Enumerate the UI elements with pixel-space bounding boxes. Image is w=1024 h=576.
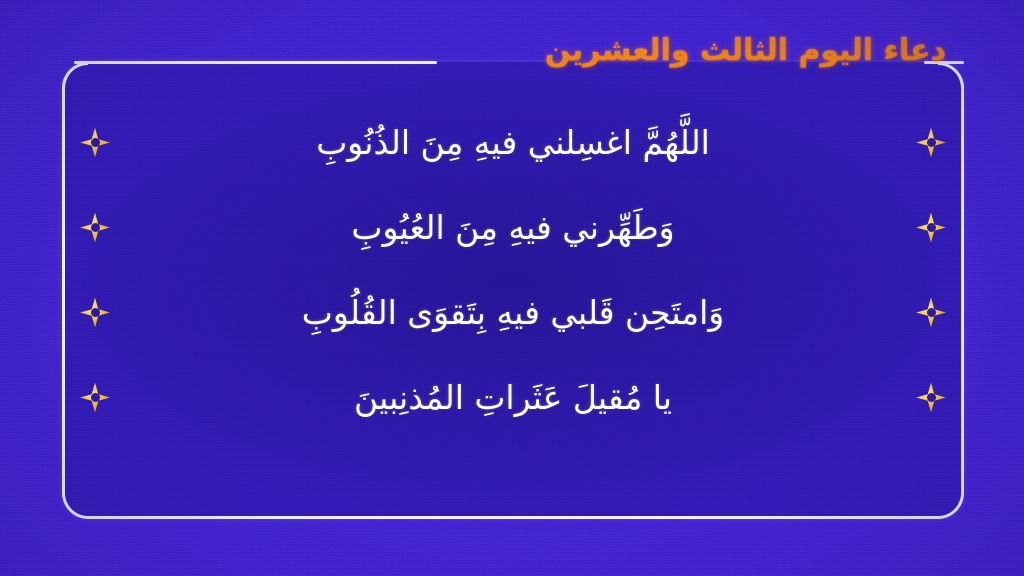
frame-top-rule-left — [74, 61, 437, 64]
frame-corner-top-left — [62, 62, 88, 88]
diamond-ornament-icon — [916, 383, 946, 413]
diamond-ornament-icon — [916, 128, 946, 158]
diamond-ornament-icon — [80, 383, 110, 413]
verse-row: اللَّهُمَّ اغسِلني فيهِ مِنَ الذُنُوبِ — [62, 100, 964, 185]
page-title: دعاء اليوم الثالث والعشرين — [545, 33, 946, 68]
verse-row: يا مُقيلَ عَثَراتِ المُذنِبينَ — [62, 355, 964, 440]
verse-text: اللَّهُمَّ اغسِلني فيهِ مِنَ الذُنُوبِ — [110, 122, 916, 163]
verse-row: وَامتَحِن قَلبي فيهِ بِتَقوَى القُلُوبِ — [62, 270, 964, 355]
verse-row: وَطَهِّرني فيهِ مِنَ العُيُوبِ — [62, 185, 964, 270]
verse-text: يا مُقيلَ عَثَراتِ المُذنِبينَ — [110, 377, 916, 418]
dua-card: دعاء اليوم الثالث والعشرين اللَّهُمَّ اغ… — [0, 0, 1024, 576]
diamond-ornament-icon — [916, 213, 946, 243]
diamond-ornament-icon — [80, 298, 110, 328]
verse-text: وَطَهِّرني فيهِ مِنَ العُيُوبِ — [110, 207, 916, 248]
verse-list: اللَّهُمَّ اغسِلني فيهِ مِنَ الذُنُوبِ و… — [62, 100, 964, 490]
verse-text: وَامتَحِن قَلبي فيهِ بِتَقوَى القُلُوبِ — [110, 292, 916, 333]
diamond-ornament-icon — [80, 213, 110, 243]
diamond-ornament-icon — [916, 298, 946, 328]
diamond-ornament-icon — [80, 128, 110, 158]
